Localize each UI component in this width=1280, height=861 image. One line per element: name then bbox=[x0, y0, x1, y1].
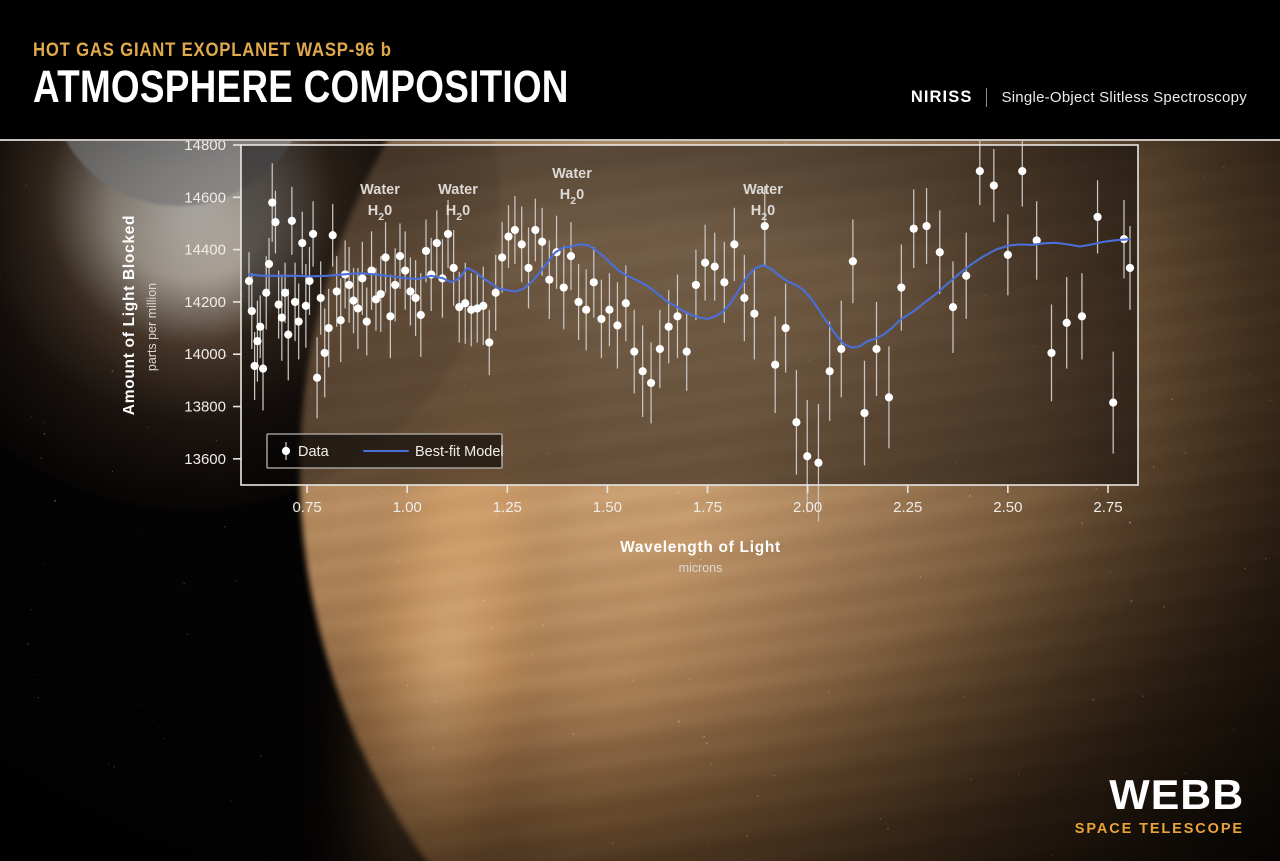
data-point bbox=[897, 283, 905, 291]
data-point bbox=[622, 299, 630, 307]
data-point bbox=[538, 238, 546, 246]
webb-logo: WEBB SPACE TELESCOPE bbox=[1075, 774, 1244, 837]
data-point bbox=[885, 393, 893, 401]
y-axis-ticks: 13600138001400014200144001460014800 bbox=[184, 137, 241, 468]
instrument-info: NIRISS Single-Object Slitless Spectrosco… bbox=[911, 88, 1247, 107]
header-divider-rule bbox=[0, 139, 1280, 141]
data-point bbox=[1093, 213, 1101, 221]
svg-text:Water: Water bbox=[438, 182, 478, 198]
x-axis-title: Wavelength of Light bbox=[620, 539, 781, 556]
data-point bbox=[479, 302, 487, 310]
data-point bbox=[511, 226, 519, 234]
data-point bbox=[422, 247, 430, 255]
page-title: ATMOSPHERE COMPOSITION bbox=[33, 62, 569, 112]
data-point bbox=[730, 240, 738, 248]
data-point bbox=[582, 306, 590, 314]
data-point bbox=[613, 321, 621, 329]
data-point bbox=[782, 324, 790, 332]
y-tick-label: 14400 bbox=[184, 242, 226, 259]
data-point bbox=[302, 302, 310, 310]
data-point bbox=[814, 459, 822, 467]
data-point bbox=[711, 263, 719, 271]
data-point bbox=[248, 307, 256, 315]
data-point bbox=[288, 217, 296, 225]
data-point bbox=[313, 374, 321, 382]
data-point bbox=[1047, 349, 1055, 357]
data-point bbox=[265, 260, 273, 268]
data-point bbox=[256, 323, 264, 331]
webb-logo-subtitle: SPACE TELESCOPE bbox=[1075, 821, 1244, 837]
data-point bbox=[922, 222, 930, 230]
data-point bbox=[386, 312, 394, 320]
data-point bbox=[630, 348, 638, 356]
data-point bbox=[740, 294, 748, 302]
x-tick-label: 2.75 bbox=[1093, 499, 1122, 516]
data-point bbox=[417, 311, 425, 319]
data-point bbox=[278, 314, 286, 322]
webb-wordmark: WEBB bbox=[1071, 774, 1244, 816]
data-point bbox=[837, 345, 845, 353]
data-point bbox=[990, 181, 998, 189]
svg-text:Water: Water bbox=[552, 166, 592, 182]
data-point bbox=[1126, 264, 1134, 272]
x-tick-label: 2.50 bbox=[993, 499, 1022, 516]
data-point bbox=[761, 222, 769, 230]
x-axis-units: microns bbox=[679, 561, 723, 575]
data-point bbox=[358, 274, 366, 282]
data-point bbox=[524, 264, 532, 272]
data-point bbox=[325, 324, 333, 332]
data-point bbox=[665, 323, 673, 331]
data-point bbox=[518, 240, 526, 248]
x-tick-label: 1.75 bbox=[693, 499, 722, 516]
data-point bbox=[291, 298, 299, 306]
y-tick-label: 14000 bbox=[184, 346, 226, 363]
data-point bbox=[792, 418, 800, 426]
data-point bbox=[245, 277, 253, 285]
svg-text:Water: Water bbox=[360, 182, 400, 198]
data-point bbox=[1063, 319, 1071, 327]
data-point bbox=[284, 331, 292, 339]
data-point bbox=[639, 367, 647, 375]
data-point bbox=[251, 362, 259, 370]
data-point bbox=[976, 167, 984, 175]
data-point bbox=[720, 278, 728, 286]
chart-legend[interactable]: DataBest-fit Model bbox=[267, 434, 504, 468]
data-point bbox=[504, 232, 512, 240]
data-point bbox=[253, 337, 261, 345]
data-point bbox=[656, 345, 664, 353]
data-point bbox=[590, 278, 598, 286]
instrument-name: NIRISS bbox=[911, 88, 973, 107]
data-point bbox=[936, 248, 944, 256]
data-point bbox=[377, 290, 385, 298]
data-point bbox=[450, 264, 458, 272]
x-tick-label: 0.75 bbox=[292, 499, 321, 516]
data-point bbox=[692, 281, 700, 289]
x-tick-label: 1.50 bbox=[593, 499, 622, 516]
data-point bbox=[433, 239, 441, 247]
data-point bbox=[309, 230, 317, 238]
data-point bbox=[363, 317, 371, 325]
data-point bbox=[262, 289, 270, 297]
legend-data-marker bbox=[282, 447, 290, 455]
data-point bbox=[1078, 312, 1086, 320]
data-point bbox=[396, 252, 404, 260]
data-point bbox=[498, 253, 506, 261]
instrument-divider bbox=[986, 88, 987, 107]
data-point bbox=[345, 281, 353, 289]
data-point bbox=[275, 300, 283, 308]
data-point bbox=[305, 277, 313, 285]
data-point bbox=[1109, 399, 1117, 407]
eyebrow-subtitle: HOT GAS GIANT EXOPLANET WASP-96 b bbox=[33, 40, 392, 62]
data-point bbox=[333, 287, 341, 295]
instrument-mode: Single-Object Slitless Spectroscopy bbox=[1001, 89, 1247, 106]
data-point bbox=[1018, 167, 1026, 175]
y-tick-label: 14200 bbox=[184, 294, 226, 311]
data-point bbox=[444, 230, 452, 238]
y-tick-label: 13600 bbox=[184, 451, 226, 468]
data-point bbox=[406, 287, 414, 295]
data-point bbox=[771, 361, 779, 369]
y-axis-title: Amount of Light Blocked bbox=[121, 215, 138, 415]
data-point bbox=[295, 317, 303, 325]
data-point bbox=[531, 226, 539, 234]
data-point bbox=[605, 306, 613, 314]
data-point bbox=[401, 266, 409, 274]
data-point bbox=[860, 409, 868, 417]
data-point bbox=[803, 452, 811, 460]
data-point bbox=[354, 304, 362, 312]
x-tick-label: 1.00 bbox=[393, 499, 422, 516]
data-point bbox=[298, 239, 306, 247]
data-point bbox=[349, 297, 357, 305]
data-point bbox=[337, 316, 345, 324]
data-point bbox=[317, 294, 325, 302]
data-point bbox=[271, 218, 279, 226]
data-point bbox=[411, 294, 419, 302]
data-point bbox=[492, 289, 500, 297]
data-point bbox=[321, 349, 329, 357]
data-point bbox=[962, 272, 970, 280]
data-point bbox=[683, 348, 691, 356]
data-point bbox=[701, 259, 709, 267]
header-bar: HOT GAS GIANT EXOPLANET WASP-96 b ATMOSP… bbox=[0, 0, 1280, 140]
data-point bbox=[826, 367, 834, 375]
data-point bbox=[381, 253, 389, 261]
data-point bbox=[485, 338, 493, 346]
x-axis-ticks: 0.751.001.251.501.752.002.252.502.75 bbox=[292, 485, 1122, 516]
data-point bbox=[574, 298, 582, 306]
data-point bbox=[910, 225, 918, 233]
svg-text:Water: Water bbox=[743, 182, 783, 198]
y-tick-label: 13800 bbox=[184, 399, 226, 416]
data-point bbox=[259, 365, 267, 373]
data-point bbox=[329, 231, 337, 239]
data-point bbox=[949, 303, 957, 311]
data-point bbox=[567, 252, 575, 260]
data-point bbox=[647, 379, 655, 387]
data-point bbox=[391, 281, 399, 289]
legend-model-label: Best-fit Model bbox=[415, 444, 504, 460]
x-tick-label: 2.25 bbox=[893, 499, 922, 516]
data-point bbox=[268, 198, 276, 206]
data-point bbox=[461, 299, 469, 307]
data-point bbox=[673, 312, 681, 320]
data-point bbox=[872, 345, 880, 353]
data-point bbox=[750, 310, 758, 318]
y-axis-units: parts per million bbox=[145, 283, 159, 371]
data-point bbox=[545, 276, 553, 284]
data-point bbox=[281, 289, 289, 297]
x-tick-label: 1.25 bbox=[493, 499, 522, 516]
data-point bbox=[849, 257, 857, 265]
data-point bbox=[560, 283, 568, 291]
legend-data-label: Data bbox=[298, 444, 330, 460]
data-point bbox=[1004, 251, 1012, 259]
data-point bbox=[597, 315, 605, 323]
x-tick-label: 2.00 bbox=[793, 499, 822, 516]
y-tick-label: 14600 bbox=[184, 189, 226, 206]
